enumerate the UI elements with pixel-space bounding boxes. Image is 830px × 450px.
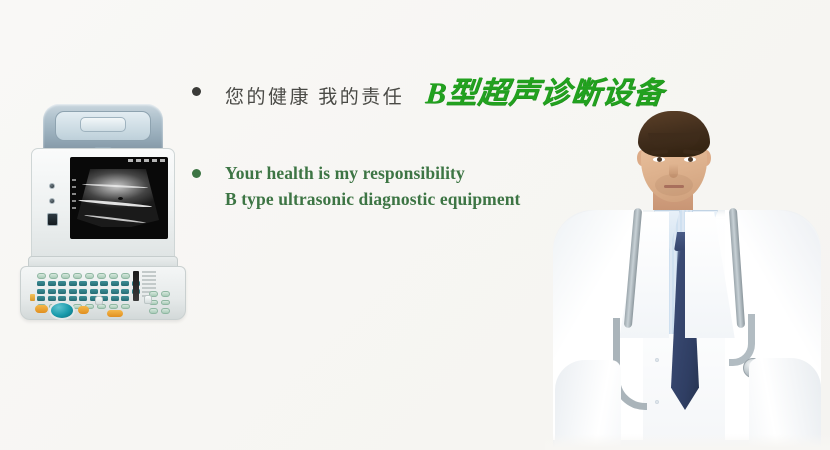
doctor-mouth bbox=[664, 185, 684, 188]
machine-lid bbox=[43, 104, 163, 152]
machine-screen bbox=[70, 157, 168, 239]
machine-orange-button bbox=[78, 306, 89, 314]
machine-gain-knob bbox=[95, 296, 103, 305]
machine-port-panel bbox=[41, 183, 63, 226]
machine-depth-knob bbox=[144, 295, 152, 304]
machine-freeze-button bbox=[107, 310, 123, 317]
doctor-nose bbox=[669, 164, 678, 178]
probe-connector-icon bbox=[49, 198, 55, 204]
machine-trackball bbox=[51, 303, 73, 318]
bottom-fade-overlay bbox=[545, 434, 830, 450]
bullet-dot-dark-icon bbox=[192, 87, 201, 96]
coat-button bbox=[655, 400, 659, 404]
coat-button bbox=[655, 358, 659, 362]
machine-orange-button bbox=[35, 305, 48, 313]
probe-connector-icon bbox=[49, 183, 55, 189]
ultrasound-scan-image bbox=[74, 169, 162, 231]
tgc-slider-bank bbox=[133, 271, 139, 301]
doctor-eye bbox=[684, 157, 696, 162]
io-port-icon bbox=[47, 213, 58, 226]
screen-hud-readout bbox=[128, 159, 165, 162]
power-indicator-icon bbox=[30, 294, 35, 301]
english-tagline-line-2: B type ultrasonic diagnostic equipment bbox=[225, 186, 521, 212]
person-image-doctor bbox=[545, 98, 830, 450]
machine-control-panel bbox=[20, 266, 186, 320]
machine-display-housing bbox=[31, 148, 175, 260]
product-image-ultrasound-machine bbox=[18, 104, 186, 320]
doctor-lab-coat bbox=[553, 210, 821, 450]
promo-banner: 您的健康 我的责任 B型超声诊断设备 Your health is my res… bbox=[0, 0, 830, 450]
machine-carry-handle bbox=[80, 117, 126, 132]
english-tagline-line-1: Your health is my responsibility bbox=[225, 160, 521, 186]
doctor-eye bbox=[653, 157, 665, 162]
chinese-tagline: 您的健康 我的责任 bbox=[225, 86, 404, 110]
bullet-dot-green-icon bbox=[192, 169, 201, 178]
scan-lesion-marker bbox=[118, 197, 123, 200]
machine-function-keys bbox=[149, 291, 181, 317]
